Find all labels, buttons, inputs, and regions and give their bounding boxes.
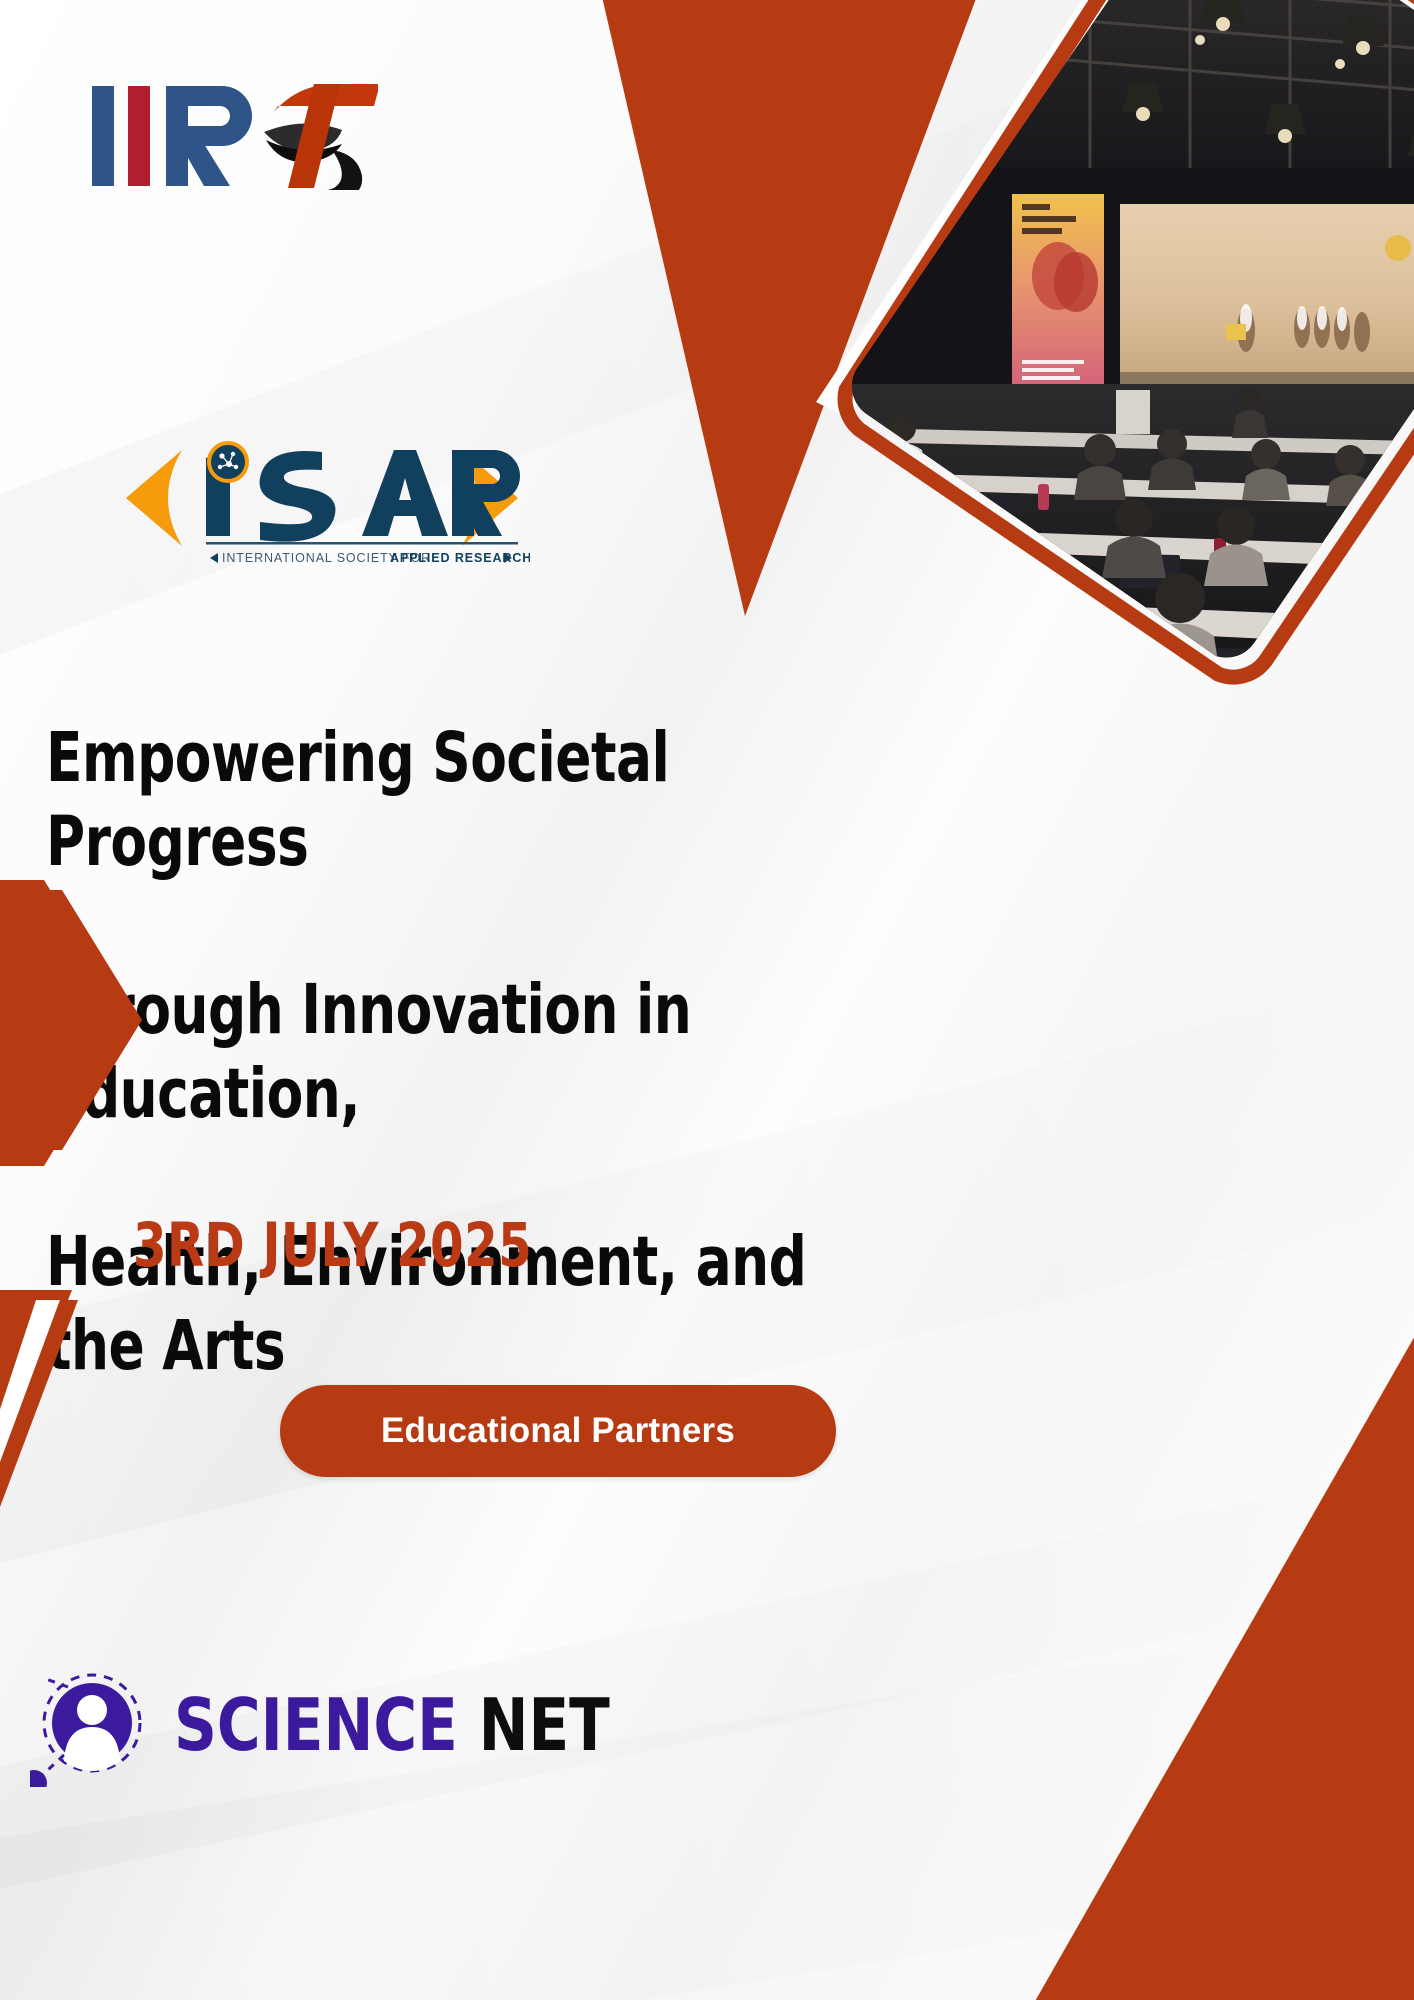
photo-banner-left	[1012, 194, 1104, 394]
science-net-wordmark: SCIENCE NET	[174, 1689, 610, 1761]
decor-bottom-right-wedge	[1030, 1320, 1414, 2000]
chevron-left-icon	[126, 450, 182, 546]
avatar-icon	[30, 1663, 154, 1787]
iirt-letter-i1	[92, 86, 114, 186]
net-word: NET	[479, 1683, 610, 1767]
iirt-logo	[88, 78, 378, 188]
educational-partners-button[interactable]: Educational Partners	[280, 1385, 836, 1477]
isar-logo: INTERNATIONAL SOCIETY FOR APPLIED RESEAR…	[110, 440, 530, 565]
poster-root: INTERNATIONAL SOCIETY FOR APPLIED RESEAR…	[0, 0, 1414, 2000]
iirt-letter-r	[166, 86, 252, 186]
iirt-letter-i2	[128, 86, 150, 186]
title-line-1: Empowering Societal Progress	[46, 716, 872, 884]
isar-letter-s	[260, 451, 336, 542]
page-title: Empowering Societal Progress through Inn…	[46, 632, 872, 1472]
avatar-node-dot	[30, 1770, 47, 1787]
science-net-logo: SCIENCE NET	[30, 1660, 550, 1790]
science-word: SCIENCE	[174, 1683, 458, 1767]
isar-letter-a	[362, 450, 448, 536]
isar-tagline: INTERNATIONAL SOCIETY FOR APPLIED RESEAR…	[210, 551, 530, 565]
title-line-2: through Innovation in Education,	[46, 968, 872, 1136]
molecule-icon	[209, 443, 247, 481]
isar-letter-r	[452, 450, 520, 536]
event-date: 3RD JULY 2025	[133, 1214, 532, 1278]
